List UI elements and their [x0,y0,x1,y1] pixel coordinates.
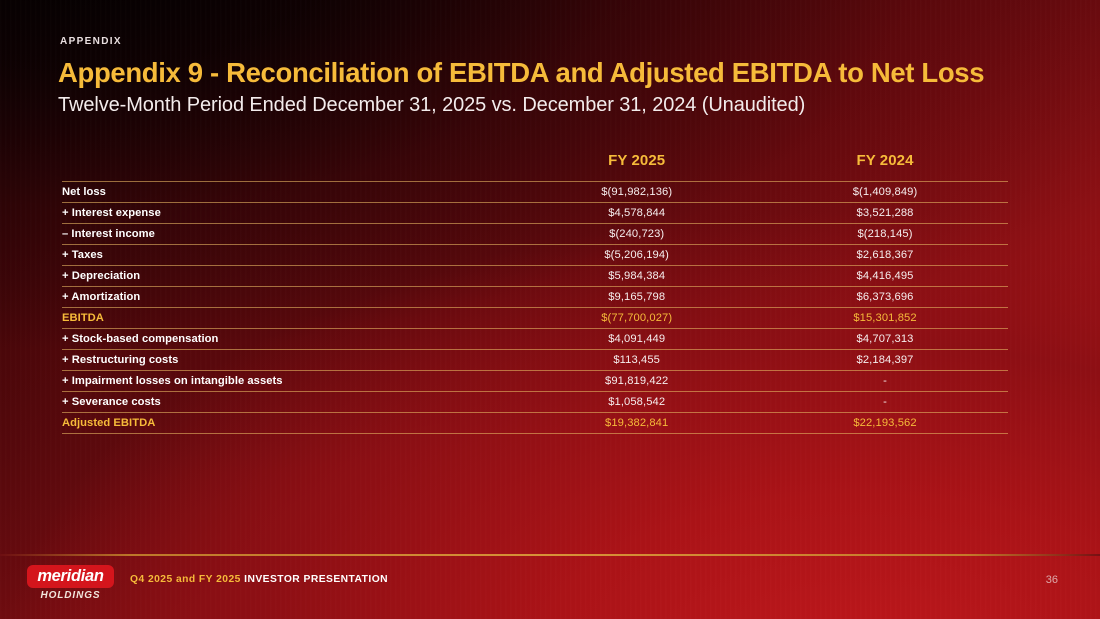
table-row: – Interest income$(240,723)$(218,145) [62,224,1008,245]
cell-fy2024: $4,707,313 [762,329,1008,350]
cell-fy2024: $22,193,562 [762,413,1008,434]
presentation-slide: APPENDIX Appendix 9 - Reconciliation of … [0,0,1100,619]
footer-caption-title: INVESTOR PRESENTATION [244,574,388,585]
page-number: 36 [1046,574,1058,586]
table-row: + Impairment losses on intangible assets… [62,371,1008,392]
cell-fy2025: $(5,206,194) [511,245,762,266]
table-row: + Depreciation$5,984,384$4,416,495 [62,266,1008,287]
table-row: + Amortization$9,165,798$6,373,696 [62,287,1008,308]
table-row: + Taxes$(5,206,194)$2,618,367 [62,245,1008,266]
cell-fy2024: $2,184,397 [762,350,1008,371]
footer-caption-period: Q4 2025 and FY 2025 [130,574,241,585]
company-logo: meridian HOLDINGS [27,565,114,601]
cell-fy2025: $(240,723) [511,224,762,245]
cell-fy2024: $4,416,495 [762,266,1008,287]
table-row: + Restructuring costs$113,455$2,184,397 [62,350,1008,371]
table-header: FY 2025 FY 2024 [62,152,1008,182]
row-label: + Amortization [62,287,511,308]
table-row: Net loss$(91,982,136)$(1,409,849) [62,182,1008,203]
reconciliation-table-container: FY 2025 FY 2024 Net loss$(91,982,136)$(1… [62,152,1008,434]
cell-fy2024: $2,618,367 [762,245,1008,266]
page-title: Appendix 9 - Reconciliation of EBITDA an… [58,57,984,89]
row-label: + Interest expense [62,203,511,224]
reconciliation-table: FY 2025 FY 2024 Net loss$(91,982,136)$(1… [62,152,1008,434]
footer-caption: Q4 2025 and FY 2025 INVESTOR PRESENTATIO… [130,574,388,585]
cell-fy2025: $(77,700,027) [511,308,762,329]
column-header-fy2025: FY 2025 [511,152,762,182]
table-body: Net loss$(91,982,136)$(1,409,849)+ Inter… [62,182,1008,434]
column-header-line-item [62,152,511,182]
table-row: Adjusted EBITDA$19,382,841$22,193,562 [62,413,1008,434]
cell-fy2025: $113,455 [511,350,762,371]
cell-fy2025: $5,984,384 [511,266,762,287]
page-subtitle: Twelve-Month Period Ended December 31, 2… [58,94,805,117]
row-label: Adjusted EBITDA [62,413,511,434]
table-header-row: FY 2025 FY 2024 [62,152,1008,182]
table-row: + Interest expense$4,578,844$3,521,288 [62,203,1008,224]
row-label: + Depreciation [62,266,511,287]
cell-fy2024: $3,521,288 [762,203,1008,224]
row-label: + Stock-based compensation [62,329,511,350]
cell-fy2024: $(1,409,849) [762,182,1008,203]
cell-fy2025: $4,091,449 [511,329,762,350]
section-eyebrow: APPENDIX [60,36,122,47]
table-row: + Severance costs$1,058,542- [62,392,1008,413]
cell-fy2024: - [762,371,1008,392]
logo-wordmark: meridian [27,565,114,588]
footer-divider [0,554,1100,556]
row-label: + Restructuring costs [62,350,511,371]
cell-fy2025: $1,058,542 [511,392,762,413]
row-label: Net loss [62,182,511,203]
cell-fy2024: - [762,392,1008,413]
cell-fy2024: $6,373,696 [762,287,1008,308]
column-header-fy2024: FY 2024 [762,152,1008,182]
cell-fy2024: $15,301,852 [762,308,1008,329]
row-label: + Taxes [62,245,511,266]
cell-fy2025: $9,165,798 [511,287,762,308]
cell-fy2025: $91,819,422 [511,371,762,392]
cell-fy2025: $19,382,841 [511,413,762,434]
cell-fy2025: $(91,982,136) [511,182,762,203]
table-row: EBITDA$(77,700,027)$15,301,852 [62,308,1008,329]
row-label: – Interest income [62,224,511,245]
table-row: + Stock-based compensation$4,091,449$4,7… [62,329,1008,350]
row-label: EBITDA [62,308,511,329]
cell-fy2024: $(218,145) [762,224,1008,245]
logo-subtext: HOLDINGS [27,590,114,601]
row-label: + Severance costs [62,392,511,413]
cell-fy2025: $4,578,844 [511,203,762,224]
row-label: + Impairment losses on intangible assets [62,371,511,392]
